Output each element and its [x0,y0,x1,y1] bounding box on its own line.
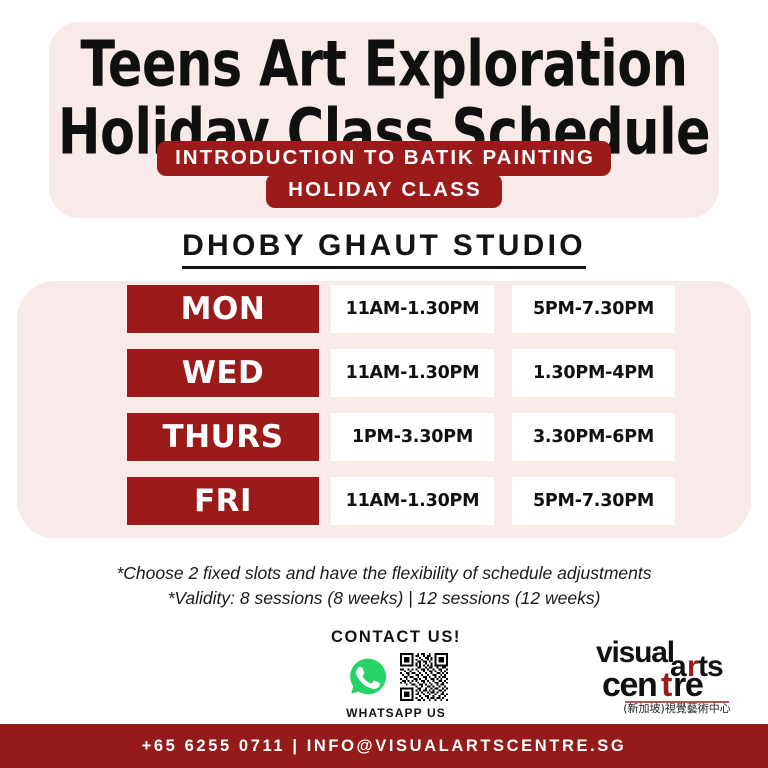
timeslot-mon-2: 5PM-7.30PM [512,285,675,333]
badge-row-1: INTRODUCTION TO BATIK PAINTING [0,141,768,176]
day-label-wed: WED [127,349,319,397]
contact-block: CONTACT US! [296,628,496,720]
footer-bar: +65 6255 0711 | INFO@VISUALARTSCENTRE.SG [0,724,768,768]
timeslot-fri-1: 11AM-1.30PM [331,477,494,525]
table-row: WED 11AM-1.30PM 1.30PM-4PM [127,349,675,397]
timeslot-thurs-1: 1PM-3.30PM [331,413,494,461]
day-label-mon: MON [127,285,319,333]
schedule-table: MON 11AM-1.30PM 5PM-7.30PM WED 11AM-1.30… [127,285,675,525]
title-line-1: Teens Art Exploration [56,32,713,98]
studio-name: DHOBY GHAUT STUDIO [182,229,586,269]
visual-arts-centre-logo: visual a r ts cen t re (新加坡)視覺藝術中心 [578,636,764,714]
notes-block: *Choose 2 fixed slots and have the flexi… [0,561,768,611]
note-line-2: *Validity: 8 sessions (8 weeks) | 12 ses… [0,586,768,611]
badge-course-title: INTRODUCTION TO BATIK PAINTING [157,141,611,176]
contact-title: CONTACT US! [296,628,496,647]
timeslot-wed-2: 1.30PM-4PM [512,349,675,397]
day-label-fri: FRI [127,477,319,525]
badge-row-2: HOLIDAY CLASS [0,174,768,208]
logo-svg: visual a r ts cen t re (新加坡)視覺藝術中心 [578,636,764,714]
timeslot-mon-1: 11AM-1.30PM [331,285,494,333]
timeslot-thurs-2: 3.30PM-6PM [512,413,675,461]
table-row: MON 11AM-1.30PM 5PM-7.30PM [127,285,675,333]
studio-heading: DHOBY GHAUT STUDIO [0,229,768,269]
timeslot-wed-1: 11AM-1.30PM [331,349,494,397]
logo-word-centre-cen: cen [602,666,656,704]
qr-code-icon[interactable] [400,653,448,701]
page-title: Teens Art Exploration Holiday Class Sche… [49,32,719,154]
footer-contact-text: +65 6255 0711 | INFO@VISUALARTSCENTRE.SG [142,737,627,756]
contact-media [296,653,496,701]
logo-chinese-name: (新加坡)視覺藝術中心 [623,701,731,714]
logo-word-visual: visual [596,636,674,669]
whatsapp-icon[interactable] [344,653,392,701]
schedule-panel: MON 11AM-1.30PM 5PM-7.30PM WED 11AM-1.30… [17,281,751,538]
badge-class-type: HOLIDAY CLASS [266,174,502,208]
table-row: THURS 1PM-3.30PM 3.30PM-6PM [127,413,675,461]
table-row: FRI 11AM-1.30PM 5PM-7.30PM [127,477,675,525]
whatsapp-label: WHATSAPP US [296,706,496,720]
subtitle-badges: INTRODUCTION TO BATIK PAINTING HOLIDAY C… [0,141,768,208]
timeslot-fri-2: 5PM-7.30PM [512,477,675,525]
day-label-thurs: THURS [127,413,319,461]
note-line-1: *Choose 2 fixed slots and have the flexi… [0,561,768,586]
logo-word-centre-t: t [661,666,672,704]
logo-word-centre-re: re [673,666,703,704]
